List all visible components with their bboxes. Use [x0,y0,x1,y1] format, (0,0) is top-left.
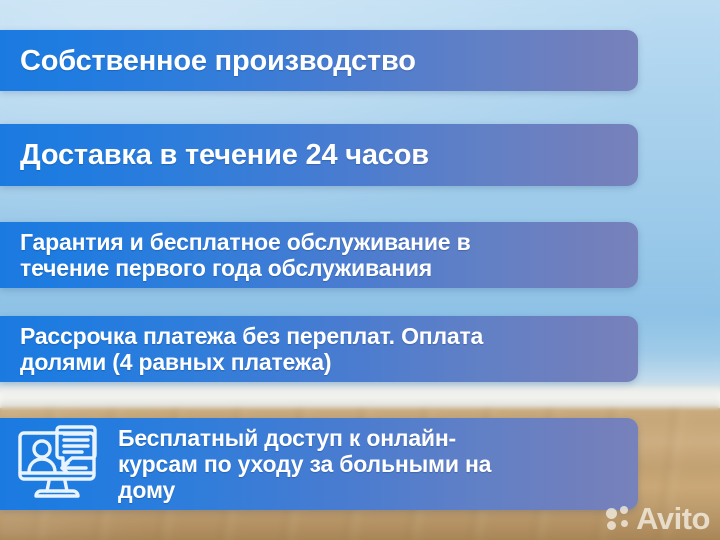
feature-label-own-production: Собственное производство [20,45,416,77]
feature-label-installment-payment: Рассрочка платежа без переплат. Оплата д… [20,323,483,375]
promo-poster: Собственное производство Доставка в тече… [0,0,720,540]
feature-bar-installment-payment: Рассрочка платежа без переплат. Оплата д… [0,316,638,382]
monitor-person-document-icon [14,424,110,504]
feature-bar-free-online-courses: Бесплатный доступ к онлайн- курсам по ух… [0,418,638,510]
avito-brand-label: Avito [636,503,710,534]
feature-label-warranty-free-service: Гарантия и бесплатное обслуживание в теч… [20,229,471,281]
feature-bar-delivery-24h: Доставка в течение 24 часов [0,124,638,186]
feature-list: Собственное производство Доставка в тече… [0,0,720,540]
feature-bar-own-production: Собственное производство [0,30,638,91]
avito-watermark: Avito [606,503,710,534]
feature-label-delivery-24h: Доставка в течение 24 часов [20,139,429,171]
avito-dots-icon [606,506,632,532]
feature-label-free-online-courses: Бесплатный доступ к онлайн- курсам по ух… [118,425,491,503]
feature-bar-warranty-free-service: Гарантия и бесплатное обслуживание в теч… [0,222,638,288]
